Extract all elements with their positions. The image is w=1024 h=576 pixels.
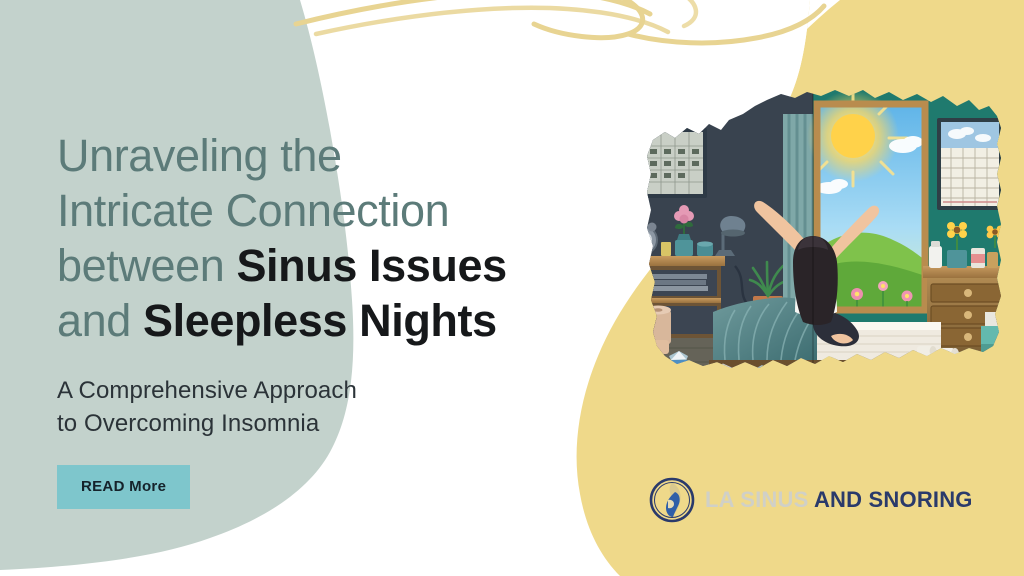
headline-line-3-strong: Sinus Issues (236, 240, 506, 291)
night-toilet-paper-rolls (643, 306, 671, 361)
right-edge-bed (981, 312, 1009, 354)
headline-line-4-muted: and (57, 295, 143, 346)
subtitle-line-1: A Comprehensive Approach (57, 377, 357, 404)
read-more-button[interactable]: READ More (57, 465, 190, 509)
logo-text-light: LA SINUS (705, 487, 808, 512)
night-wall-calendar (643, 128, 707, 198)
page-title: Unraveling theIntricate Connectionbetwee… (57, 128, 597, 348)
night-nightstand (633, 256, 725, 338)
logo-text-dark: AND SNORING (808, 487, 972, 512)
figure-hair (793, 236, 838, 325)
blog-banner: Unraveling theIntricate Connectionbetwee… (0, 0, 1024, 576)
day-toilet-paper-rolls (917, 346, 998, 382)
headline-line-4-strong: Sleepless Nights (143, 295, 497, 346)
logo-circle-head-icon (648, 476, 696, 524)
brand-logo[interactable]: LA SINUS AND SNORING (648, 476, 973, 524)
hero-illustration: Split night-and-day bedroom scene Woman … (617, 84, 1009, 414)
headline-block: Unraveling theIntricate Connectionbetwee… (57, 128, 597, 509)
subtitle-line-2: to Overcoming Insomnia (57, 410, 319, 437)
read-more-label-tail: More (125, 478, 167, 495)
day-wall-calendar (937, 118, 1003, 210)
pink-slipper (875, 368, 911, 383)
scene-split-seam (812, 84, 814, 414)
headline-line-3-muted: between (57, 240, 236, 291)
alarm-clock (629, 223, 657, 255)
page-subtitle: A Comprehensive Approachto Overcoming In… (57, 348, 597, 440)
illustration-scene (617, 84, 1009, 414)
read-more-label-lead: READ (81, 478, 125, 495)
headline-line-2: Intricate Connection (57, 185, 449, 236)
headline-line-1: Unraveling the (57, 130, 342, 181)
logo-wordmark: LA SINUS AND SNORING (705, 489, 973, 511)
